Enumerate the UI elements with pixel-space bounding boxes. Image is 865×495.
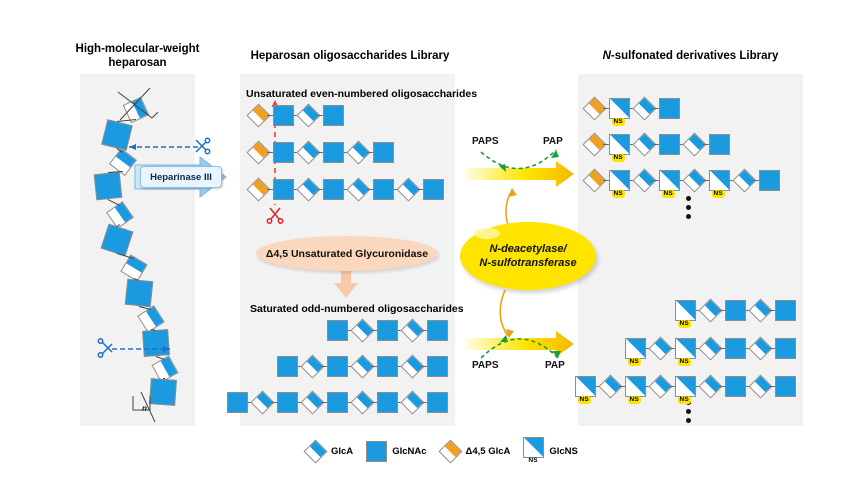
residue-glca: [404, 394, 421, 411]
residue-glca: [702, 302, 719, 319]
ns-blue-triangle: [610, 171, 629, 190]
legend-glcnac-square: [366, 441, 387, 462]
residue-glcnac: [775, 376, 796, 397]
residue-d45-glca: [586, 100, 603, 117]
residue-glcnac: [659, 98, 680, 119]
legend-item-GlcNAc: GlcNAc: [366, 440, 426, 462]
residue-glcns: [609, 170, 630, 191]
ns-badge: NS: [678, 396, 691, 404]
residue-glcnac: [377, 356, 398, 377]
residue-glcnac: [373, 142, 394, 163]
residue-glcnac: [709, 134, 730, 155]
residue-glcnac: [277, 392, 298, 413]
ndst-label-line1: N-deacetylase/: [489, 242, 566, 256]
residue-glca: [686, 136, 703, 153]
residue-glcnac: [759, 170, 780, 191]
ns-blue-triangle: [676, 377, 695, 396]
residue-glcns: [675, 338, 696, 359]
legend-label-GlcNAc: GlcNAc: [392, 446, 426, 457]
residue-glca: [636, 100, 653, 117]
residue-glca: [736, 172, 753, 189]
ns-badge: NS: [526, 457, 539, 465]
residue-glca: [404, 358, 421, 375]
ns-badge: NS: [678, 320, 691, 328]
residue-glcnac: [725, 300, 746, 321]
legend-symbol-GlcNS: NS: [523, 437, 545, 465]
residue-glcnac: [423, 179, 444, 200]
residue-glca: [254, 394, 271, 411]
residue-glcnac: [273, 179, 294, 200]
residue-glca: [404, 322, 421, 339]
residue-glcns: [675, 376, 696, 397]
residue-d45-glca: [586, 136, 603, 153]
residue-glcnac: [427, 392, 448, 413]
residue-glcns: [625, 376, 646, 397]
cofactor-paps-top: PAPS: [472, 136, 499, 147]
ns-blue-triangle: [660, 171, 679, 190]
residue-glcnac: [427, 356, 448, 377]
residue-glca: [686, 172, 703, 189]
ns-badge: NS: [612, 118, 625, 126]
residue-d45-glca: [250, 144, 267, 161]
residue-glcns: [675, 300, 696, 321]
ellipsis-right-top: [686, 196, 691, 219]
residue-glcnac: [327, 320, 348, 341]
ndst-arrows: [0, 0, 865, 495]
legend-symbol-GlcNAc: [366, 440, 388, 462]
residue-glcnac: [775, 338, 796, 359]
ns-badge: NS: [578, 396, 591, 404]
cofactor-pap-bottom: PAP: [545, 360, 565, 371]
residue-glca: [752, 302, 769, 319]
residue-glca: [702, 378, 719, 395]
legend-label-d45GlcA: Δ4,5 GlcA: [466, 446, 511, 457]
ns-blue-triangle: [524, 438, 543, 457]
ns-badge: NS: [662, 190, 675, 198]
residue-glcnac: [377, 320, 398, 341]
cofactor-paps-bottom: PAPS: [472, 360, 499, 371]
residue-glcnac: [725, 338, 746, 359]
residue-d45-glca: [586, 172, 603, 189]
residue-glcnac: [273, 142, 294, 163]
legend-item-GlcA: GlcA: [305, 440, 353, 462]
residue-glcns: [709, 170, 730, 191]
residue-glca: [354, 394, 371, 411]
residue-d45-glca: [250, 181, 267, 198]
residue-glcnac: [327, 392, 348, 413]
residue-glcnac: [725, 376, 746, 397]
residue-glcnac: [659, 134, 680, 155]
residue-glca: [400, 181, 417, 198]
residue-glca: [652, 340, 669, 357]
ns-blue-triangle: [576, 377, 595, 396]
residue-glca: [300, 107, 317, 124]
residue-glcnac: [323, 105, 344, 126]
legend-symbol-d45GlcA: [440, 440, 462, 462]
residue-d45-glca: [250, 107, 267, 124]
residue-glca: [300, 144, 317, 161]
residue-glcns: [575, 376, 596, 397]
residue-glca: [304, 394, 321, 411]
ns-blue-triangle: [610, 135, 629, 154]
ns-blue-triangle: [626, 377, 645, 396]
residue-glcnac: [775, 300, 796, 321]
legend-symbol-GlcA: [305, 440, 327, 462]
ns-badge: NS: [612, 190, 625, 198]
legend: GlcAGlcNAcΔ4,5 GlcANSGlcNS: [305, 437, 578, 465]
residue-glcns: [609, 98, 630, 119]
residue-glca: [354, 322, 371, 339]
legend-label-GlcA: GlcA: [331, 446, 353, 457]
residue-glcnac: [373, 179, 394, 200]
legend-glcns-square: [523, 437, 544, 458]
legend-glca-diamond: [307, 443, 324, 460]
ns-badge: NS: [678, 358, 691, 366]
residue-glca: [350, 144, 367, 161]
ndst-label-line2: N-sulfotransferase: [479, 256, 576, 270]
ns-blue-triangle: [626, 339, 645, 358]
residue-glca: [752, 340, 769, 357]
residue-glcnac: [277, 356, 298, 377]
residue-glcnac: [227, 392, 248, 413]
ns-badge: NS: [628, 396, 641, 404]
residue-glcnac: [327, 356, 348, 377]
ns-blue-triangle: [676, 339, 695, 358]
legend-item-GlcNS: NSGlcNS: [523, 437, 578, 465]
residue-glca: [602, 378, 619, 395]
cofactor-pap-top: PAP: [543, 136, 563, 147]
residue-glcnac: [427, 320, 448, 341]
ellipse-highlight: [474, 228, 500, 239]
ns-blue-triangle: [676, 301, 695, 320]
residue-glcns: [659, 170, 680, 191]
residue-glca: [300, 181, 317, 198]
residue-glca: [752, 378, 769, 395]
residue-glcnac: [323, 179, 344, 200]
legend-item-d45GlcA: Δ4,5 GlcA: [440, 440, 511, 462]
legend-label-GlcNS: GlcNS: [549, 446, 578, 457]
residue-glcnac: [377, 392, 398, 413]
residue-glcns: [625, 338, 646, 359]
residue-glca: [304, 358, 321, 375]
legend-d45-diamond: [442, 443, 459, 460]
ns-badge: NS: [612, 154, 625, 162]
ns-blue-triangle: [710, 171, 729, 190]
ns-badge: NS: [712, 190, 725, 198]
residue-glca: [636, 136, 653, 153]
residue-glcns: [609, 134, 630, 155]
ns-badge: NS: [628, 358, 641, 366]
residue-glca: [652, 378, 669, 395]
residue-glcnac: [323, 142, 344, 163]
residue-glca: [636, 172, 653, 189]
residue-glca: [354, 358, 371, 375]
ns-blue-triangle: [610, 99, 629, 118]
residue-glca: [702, 340, 719, 357]
residue-glca: [350, 181, 367, 198]
enzyme-ndst[interactable]: N-deacetylase/ N-sulfotransferase: [460, 222, 596, 290]
residue-glcnac: [273, 105, 294, 126]
